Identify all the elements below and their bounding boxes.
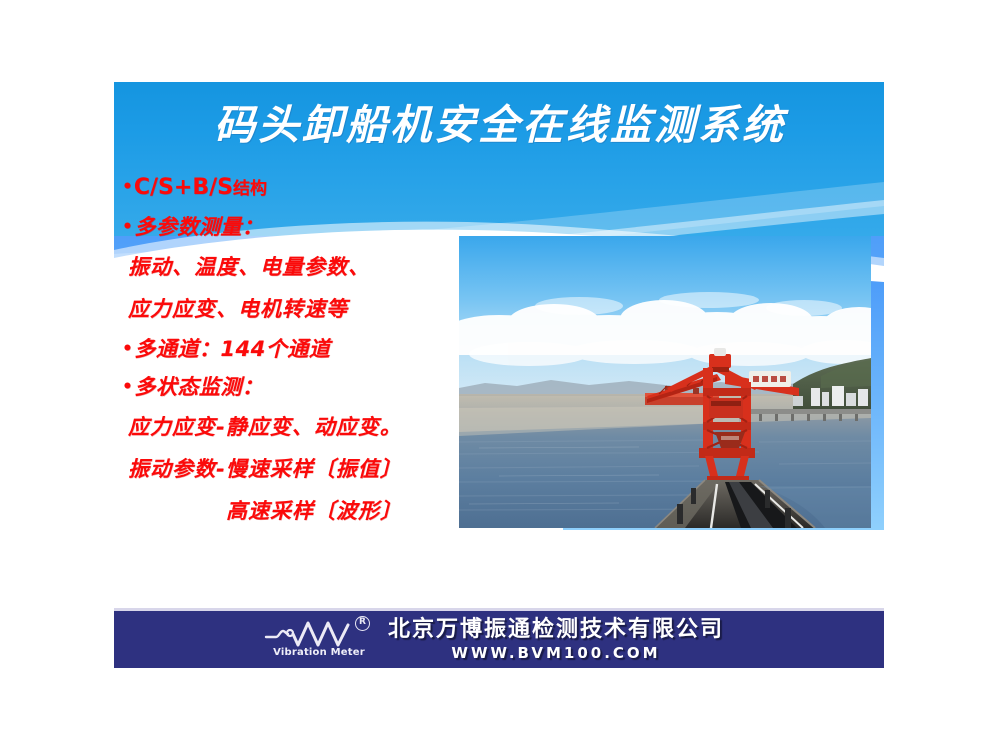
bullet-text: 应力应变-静应变、动应变。 — [128, 415, 402, 439]
bullet-glyph: • — [122, 217, 133, 237]
slide-canvas: 码头卸船机安全在线监测系统 •C/S+B/S结构 •多参数测量： 振动、温度、电… — [0, 0, 1000, 750]
bullet-glyph: • — [122, 177, 133, 197]
bullet-item-4: 应力应变、电机转速等 — [122, 288, 472, 330]
bullet-text: 高速采样〔波形〕 — [226, 499, 402, 523]
bullet-text: 多状态监测： — [134, 375, 263, 399]
bullet-text: C/S+B/S — [134, 175, 233, 200]
bullet-item-7: 应力应变-静应变、动应变。 — [122, 406, 472, 448]
ship-unloader-photo — [459, 236, 871, 528]
bullet-item-1: •C/S+B/S结构 — [122, 168, 472, 208]
bullet-text: 振动参数-慢速采样〔振值〕 — [128, 457, 402, 481]
bullet-text: 多参数测量： — [134, 215, 263, 239]
bullet-item-8: 振动参数-慢速采样〔振值〕 — [122, 448, 472, 490]
bullet-list: •C/S+B/S结构 •多参数测量： 振动、温度、电量参数、 应力应变、电机转速… — [122, 168, 472, 532]
bullet-glyph: • — [122, 339, 133, 359]
footer-company-text: 北京万博振通检测技术有限公司 WWW.BVM100.COM — [388, 619, 724, 661]
registered-trademark-icon: R — [355, 616, 370, 631]
logo-wordmark: Vibration Meter — [268, 647, 370, 658]
bullet-item-2: •多参数测量： — [122, 208, 472, 246]
company-website: WWW.BVM100.COM — [451, 646, 660, 661]
bullet-glyph: • — [122, 377, 133, 397]
company-logo: R Vibration Meter — [262, 617, 374, 663]
page-title: 码头卸船机安全在线监测系统 — [130, 96, 870, 154]
bullet-item-3: 振动、温度、电量参数、 — [122, 246, 472, 288]
bullet-item-6: •多状态监测： — [122, 368, 472, 406]
bullet-text: 振动、温度、电量参数、 — [128, 255, 370, 279]
footer-content: R Vibration Meter 北京万博振通检测技术有限公司 WWW.BVM… — [262, 617, 724, 663]
footer-bar: R Vibration Meter 北京万博振通检测技术有限公司 WWW.BVM… — [114, 608, 884, 668]
bullet-item-5: •多通道：144个通道 — [122, 330, 472, 368]
bullet-text: 多通道：144个通道 — [134, 337, 330, 361]
company-name: 北京万博振通检测技术有限公司 — [388, 619, 724, 641]
bullet-item-9: 高速采样〔波形〕 — [122, 490, 472, 532]
bullet-text: 应力应变、电机转速等 — [128, 297, 348, 321]
bullet-text-suffix: 结构 — [233, 179, 267, 199]
